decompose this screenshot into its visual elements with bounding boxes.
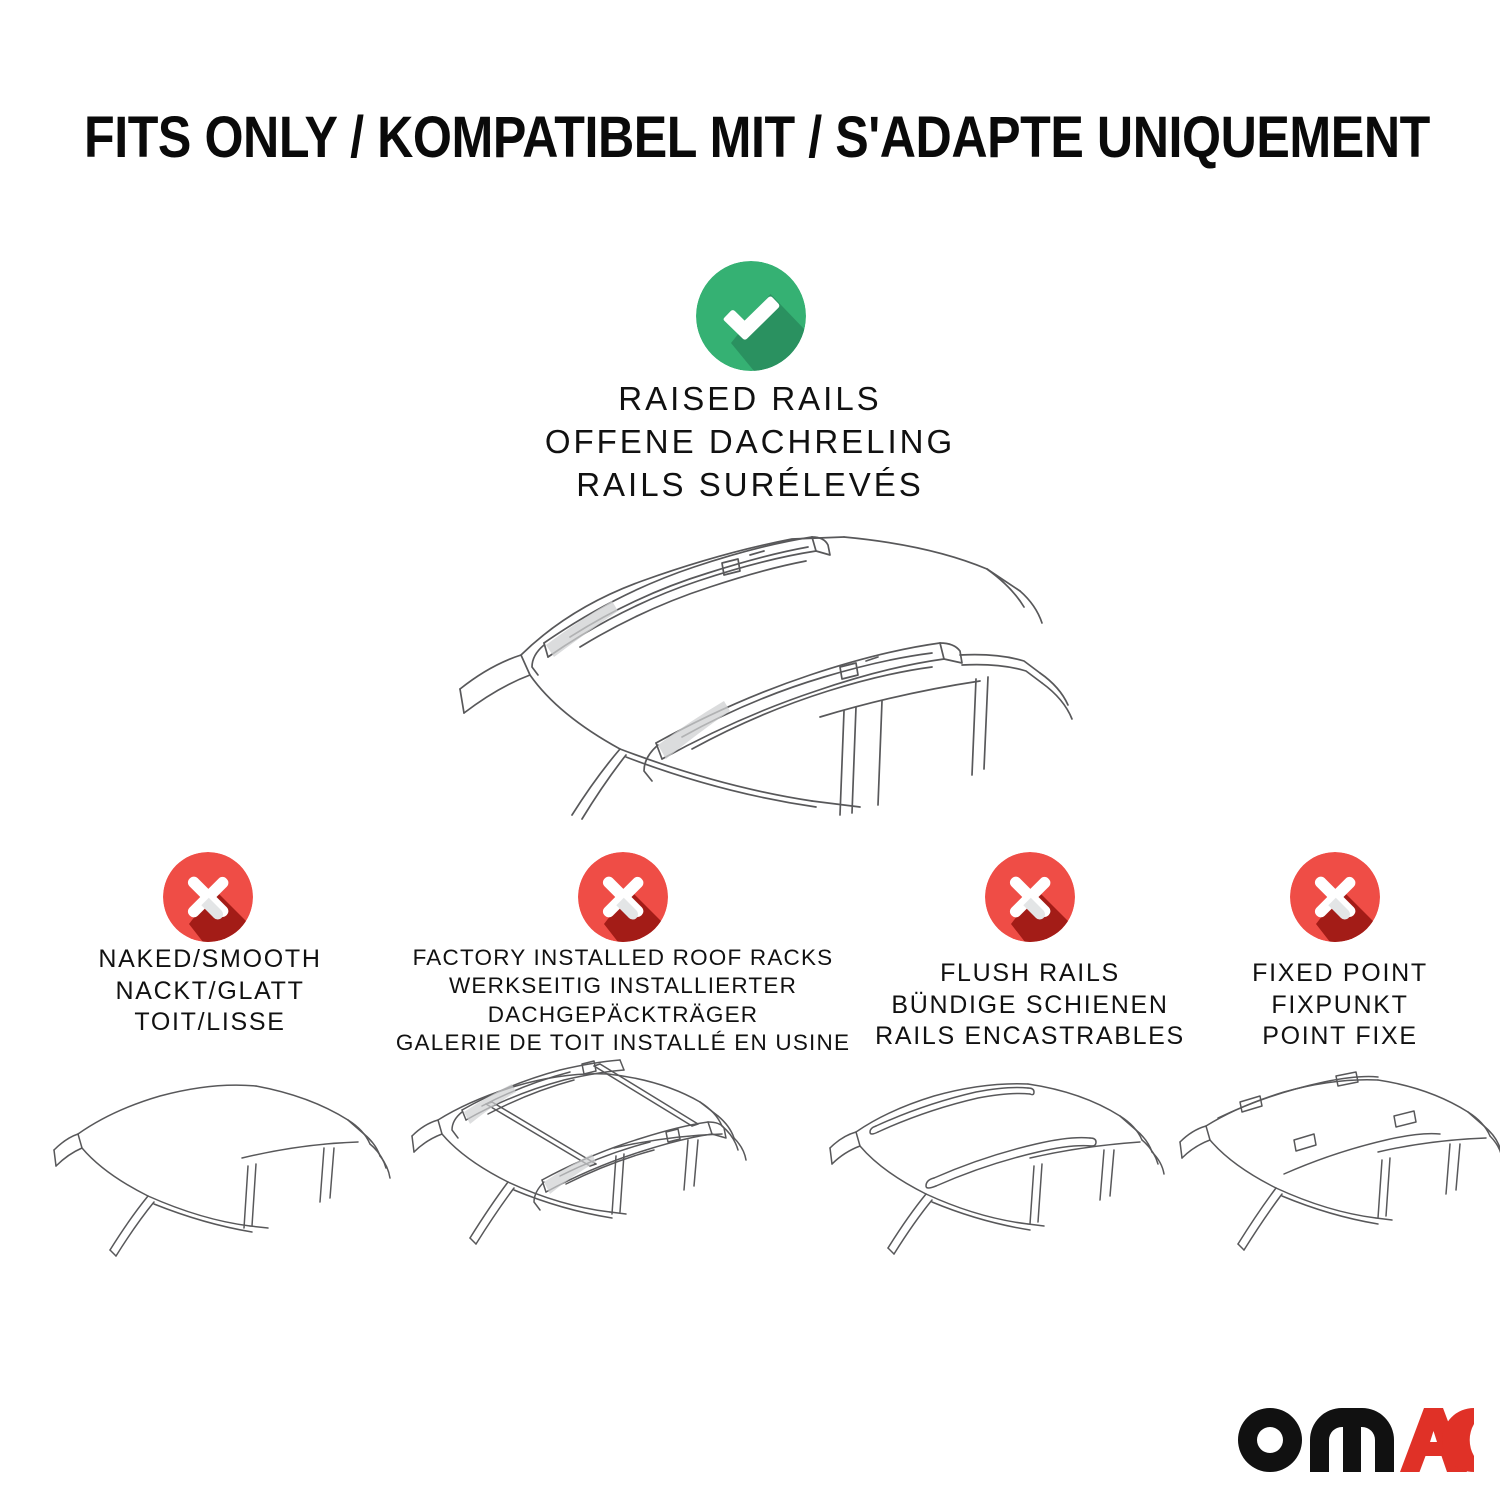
compatible-caption: RAISED RAILS OFFENE DACHRELING RAILS SUR… xyxy=(375,378,1125,507)
caption-line: OFFENE DACHRELING xyxy=(375,421,1125,464)
logo-om-black xyxy=(1238,1408,1394,1472)
x-circle-icon xyxy=(1290,852,1380,942)
incompatible-caption-naked-smooth: NAKED/SMOOTH NACKT/GLATT TOIT/LISSE xyxy=(30,944,390,1039)
omac-logo xyxy=(1234,1404,1474,1476)
fitment-chart-page: FITS ONLY / KOMPATIBEL MIT / S'ADAPTE UN… xyxy=(0,0,1500,1500)
caption-line: FIXED POINT xyxy=(1180,958,1500,990)
incompatible-caption-fixed-point: FIXED POINT FIXPUNKT POINT FIXE xyxy=(1180,958,1500,1053)
caption-line: TOIT/LISSE xyxy=(30,1007,390,1039)
caption-line: GALERIE DE TOIT INSTALLÉ EN USINE xyxy=(393,1029,853,1057)
logo-ac-red xyxy=(1400,1408,1474,1472)
incompatible-caption-flush-rails: FLUSH RAILS BÜNDIGE SCHIENEN RAILS ENCAS… xyxy=(850,958,1210,1053)
caption-line: RAILS SURÉLEVÉS xyxy=(375,464,1125,507)
car-roof-fixed-point-illustration xyxy=(1172,1062,1500,1292)
page-title: FITS ONLY / KOMPATIBEL MIT / S'ADAPTE UN… xyxy=(84,108,1243,169)
caption-line: NACKT/GLATT xyxy=(30,976,390,1008)
x-circle-icon xyxy=(985,852,1075,942)
x-circle-icon xyxy=(578,852,668,942)
caption-line: FACTORY INSTALLED ROOF RACKS xyxy=(393,944,853,972)
caption-line: WERKSEITIG INSTALLIERTER xyxy=(393,972,853,1000)
caption-line: FLUSH RAILS xyxy=(850,958,1210,990)
car-roof-naked-smooth-illustration xyxy=(52,1062,392,1292)
caption-line: BÜNDIGE SCHIENEN xyxy=(850,990,1210,1022)
x-circle-icon xyxy=(163,852,253,942)
car-roof-factory-roof-racks-illustration xyxy=(404,1058,764,1293)
check-circle-icon xyxy=(696,261,806,371)
incompatible-caption-factory-roof-racks: FACTORY INSTALLED ROOF RACKS WERKSEITIG … xyxy=(393,944,853,1057)
caption-line: RAILS ENCASTRABLES xyxy=(850,1021,1210,1053)
caption-line: DACHGEPÄCKTRÄGER xyxy=(393,1001,853,1029)
caption-line: POINT FIXE xyxy=(1180,1021,1500,1053)
caption-line: NAKED/SMOOTH xyxy=(30,944,390,976)
car-roof-flush-rails-illustration xyxy=(822,1062,1172,1292)
caption-line: FIXPUNKT xyxy=(1180,990,1500,1022)
caption-line: RAISED RAILS xyxy=(375,378,1125,421)
car-roof-raised-rails-illustration xyxy=(420,515,1090,835)
